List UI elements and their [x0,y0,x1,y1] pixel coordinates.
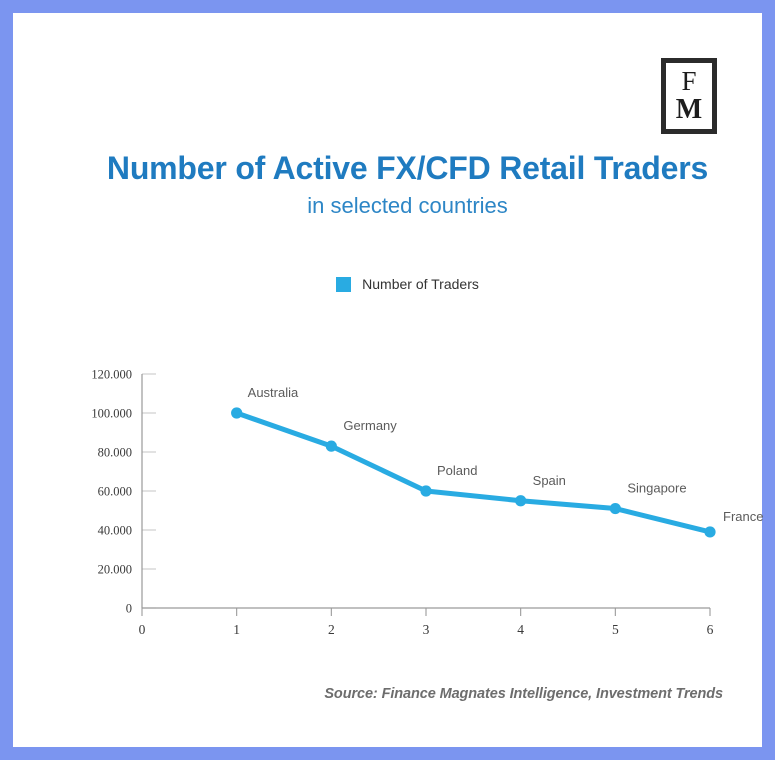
data-point-singapore [610,503,621,514]
y-tick-label: 100.000 [91,407,132,421]
x-tick-label: 1 [233,622,240,637]
point-label-singapore: Singapore [627,481,686,496]
data-point-france [704,526,715,537]
point-label-australia: Australia [248,385,299,400]
page-subtitle: in selected countries [20,192,775,221]
page-title: Number of Active FX/CFD Retail Traders [20,148,775,188]
logo-letter-f: F [681,67,696,95]
x-tick-label: 0 [139,622,146,637]
title-block: Number of Active FX/CFD Retail Traders i… [20,148,775,221]
x-tick-label: 5 [612,622,619,637]
line-chart-svg: 020.00040.00060.00080.000100.000120.000 … [20,350,775,650]
x-tick-label: 3 [423,622,430,637]
infographic-canvas: F M Number of Active FX/CFD Retail Trade… [20,20,755,740]
chart-plot-area: 020.00040.00060.00080.000100.000120.000 … [20,350,775,650]
data-point-poland [420,485,431,496]
point-label-spain: Spain [533,473,566,488]
chart-legend: Number of Traders [20,276,775,292]
y-tick-label: 0 [126,602,132,616]
source-note: Source: Finance Magnates Intelligence, I… [324,686,723,702]
x-tick-label: 6 [707,622,714,637]
point-label-france: France [723,509,763,524]
y-tick-label: 60.000 [98,485,132,499]
point-label-germany: Germany [343,418,397,433]
data-point-spain [515,495,526,506]
logo-letter-m: M [676,95,702,124]
infographic-frame: F M Number of Active FX/CFD Retail Trade… [0,0,775,760]
finance-magnates-logo: F M [661,58,717,134]
legend-label-number-of-traders: Number of Traders [362,276,479,292]
data-point-australia [231,407,242,418]
x-axis-ticks: 0123456 [139,608,714,637]
series-point-labels: AustraliaGermanyPolandSpainSingaporeFran… [248,385,764,524]
y-axis-ticks: 020.00040.00060.00080.000100.000120.000 [91,368,156,616]
x-tick-label: 4 [517,622,524,637]
y-tick-label: 80.000 [98,446,132,460]
point-label-poland: Poland [437,463,477,478]
x-tick-label: 2 [328,622,335,637]
y-tick-label: 120.000 [91,368,132,382]
data-point-germany [326,441,337,452]
y-tick-label: 40.000 [98,524,132,538]
y-tick-label: 20.000 [98,563,132,577]
legend-swatch-number-of-traders [336,277,351,292]
